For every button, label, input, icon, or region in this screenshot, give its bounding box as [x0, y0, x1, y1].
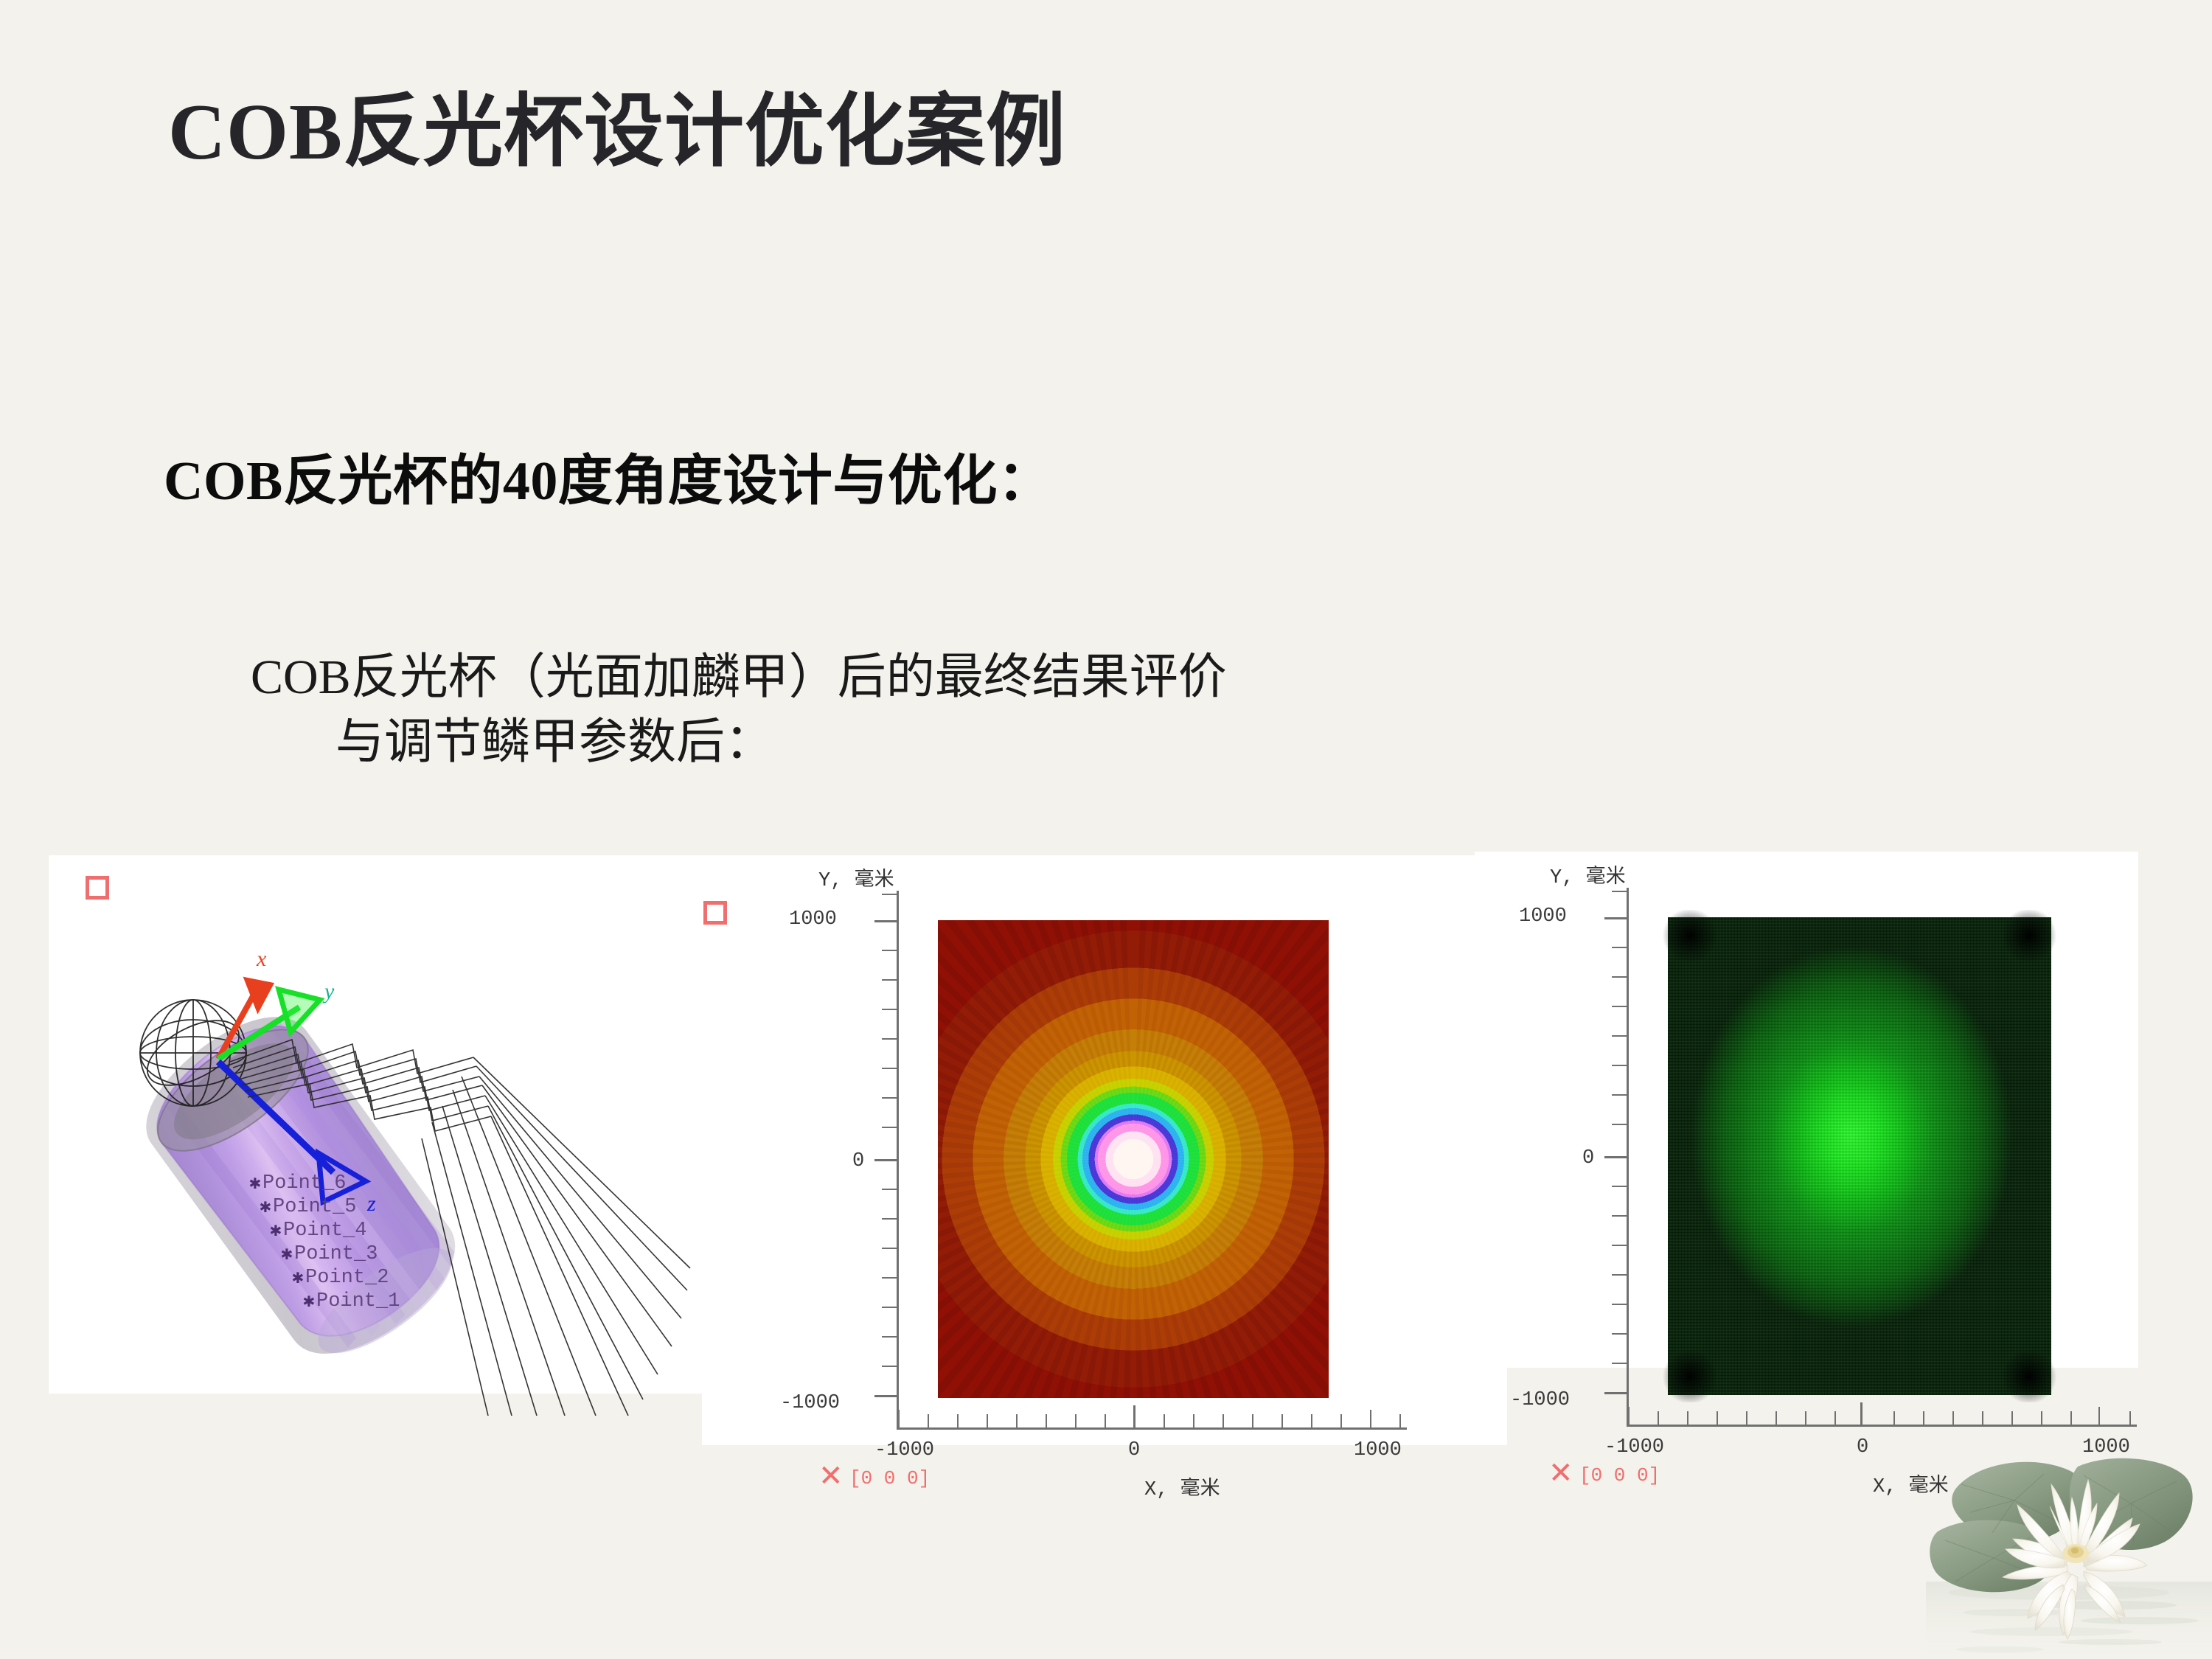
page-title: COB反光杯设计优化案例 [168, 87, 1066, 178]
y-tick-mark [1612, 1215, 1627, 1217]
x-tick-mark-major [1860, 1402, 1863, 1425]
x-tick-mark [928, 1414, 929, 1427]
x-tick-m1000: -1000 [1604, 1436, 1664, 1458]
body-text-line-1: COB反光杯（光面加麟甲）后的最终结果评价 [251, 645, 1227, 710]
y-tick-mark [1612, 1035, 1627, 1037]
y-tick-mark [1612, 891, 1627, 892]
x-tick-mark [1222, 1414, 1224, 1427]
x-tick-mark [1805, 1411, 1806, 1425]
x-tick-mark [1687, 1411, 1688, 1425]
x-tick-mark [2041, 1411, 2042, 1425]
x-tick-mark [898, 1410, 900, 1427]
body-text-line-2: 与调节鳞甲参数后： [335, 710, 1227, 775]
y-tick-mark [882, 1336, 897, 1338]
y-tick-mark [882, 1307, 897, 1308]
y-tick-mark [882, 1277, 897, 1279]
x-tick-1000: 1000 [1354, 1439, 1402, 1461]
x-tick-mark [1370, 1410, 1371, 1427]
origin-coordinate-label: [0 0 0] [1579, 1464, 1660, 1486]
y-tick-mark [882, 1068, 897, 1069]
y-tick-mark [1612, 1274, 1627, 1276]
y-tick-mark-major [874, 920, 897, 922]
y-tick-mark [882, 1189, 897, 1190]
x-tick-mark [1016, 1414, 1018, 1427]
selection-handle-middle[interactable] [703, 901, 727, 925]
contour-heatmap-image [938, 920, 1329, 1398]
x-tick-mark [1311, 1414, 1312, 1427]
y-tick-mark [882, 1127, 897, 1128]
water-lily-decoration [1926, 1441, 2212, 1659]
reflector-3d-view[interactable]: Point_6 Point_5 Point_4 Point_3 Point_2 … [49, 855, 712, 1394]
y-tick-mark [882, 1248, 897, 1249]
y-tick-mark [1612, 1363, 1627, 1364]
x-tick-mark [1923, 1411, 1924, 1425]
svg-text:✱: ✱ [292, 1267, 304, 1289]
contour-texture-overlay [938, 920, 1329, 1398]
svg-text:✱: ✱ [281, 1243, 293, 1265]
y-tick-mark [882, 1366, 897, 1367]
x-tick-mark [2129, 1411, 2131, 1425]
x-tick-mark [1982, 1411, 1983, 1425]
y-tick-mark [1612, 1065, 1627, 1066]
y-tick-m1000: -1000 [1510, 1389, 1570, 1411]
svg-text:✱: ✱ [303, 1290, 315, 1312]
y-axis-title: Y, 毫米 [818, 863, 894, 892]
x-tick-mark [1893, 1411, 1895, 1425]
body-text: COB反光杯（光面加麟甲）后的最终结果评价 与调节鳞甲参数后： [251, 645, 1227, 775]
x-axis-title: X, 毫米 [1144, 1472, 1220, 1501]
water-lily-svg [1926, 1441, 2212, 1659]
x-tick-mark [1193, 1414, 1194, 1427]
y-tick-mark [1612, 1186, 1627, 1187]
y-tick-mark [1612, 947, 1627, 948]
x-tick-mark [1105, 1414, 1106, 1427]
axis-label-y: y [324, 979, 334, 1004]
green-texture-overlay [1668, 917, 2051, 1395]
x-tick-mark [1658, 1411, 1659, 1425]
y-tick-1000: 1000 [789, 908, 837, 931]
x-tick-mark [957, 1414, 959, 1427]
x-tick-mark [1399, 1414, 1401, 1427]
origin-cross-icon: ✕ [818, 1461, 844, 1491]
y-tick-mark [1612, 1094, 1627, 1096]
x-tick-mark [1952, 1411, 1954, 1425]
y-tick-mark [882, 1097, 897, 1099]
svg-text:✱: ✱ [270, 1220, 282, 1242]
green-corner-vignette [1660, 910, 1719, 961]
y-tick-mark-major [1604, 917, 1627, 919]
svg-text:✱: ✱ [249, 1172, 261, 1194]
x-tick-mark [1281, 1414, 1283, 1427]
green-corner-vignette [2000, 910, 2059, 961]
y-tick-mark [882, 1009, 897, 1010]
slide-canvas: COB反光杯设计优化案例 COB反光杯的40度角度设计与优化： COB反光杯（光… [0, 0, 2212, 1659]
green-illuminance-chart[interactable]: Y, 毫米 1000 0 -1000 [1467, 863, 2205, 1438]
y-tick-mark [1612, 1006, 1627, 1007]
x-tick-0: 0 [1857, 1436, 1868, 1458]
x-tick-mark [1746, 1411, 1747, 1425]
x-tick-mark [1075, 1414, 1077, 1427]
selection-handle-left[interactable] [86, 876, 109, 900]
y-tick-0: 0 [1582, 1147, 1594, 1169]
x-tick-mark [2098, 1407, 2100, 1425]
x-tick-mark [2011, 1411, 2013, 1425]
y-tick-mark [882, 1218, 897, 1220]
x-tick-0: 0 [1128, 1439, 1140, 1461]
x-tick-mark [1340, 1414, 1342, 1427]
x-tick-mark [1628, 1407, 1630, 1425]
green-corner-vignette [2000, 1351, 2059, 1402]
green-heatmap-image [1668, 917, 2051, 1395]
y-tick-mark [1612, 1333, 1627, 1335]
y-tick-mark [882, 894, 897, 895]
y-tick-mark-major [1604, 1156, 1627, 1158]
axis-label-z: z [367, 1192, 376, 1217]
section-heading: COB反光杯的40度角度设计与优化： [164, 437, 1052, 515]
x-tick-mark [1164, 1414, 1165, 1427]
origin-cross-icon: ✕ [1548, 1458, 1573, 1488]
x-tick-mark [1834, 1411, 1836, 1425]
y-tick-0: 0 [852, 1150, 864, 1172]
y-axis-line [1627, 888, 1629, 1425]
svg-text:✱: ✱ [260, 1196, 271, 1218]
green-corner-vignette [1660, 1351, 1719, 1402]
y-tick-mark-major [874, 1395, 897, 1397]
axis-label-x: x [257, 947, 266, 972]
y-tick-mark [882, 950, 897, 951]
contour-illuminance-chart[interactable]: Y, 毫米 1000 0 -1000 [737, 863, 1475, 1438]
y-tick-mark [1612, 976, 1627, 978]
y-axis-line [897, 891, 899, 1427]
y-axis-title: Y, 毫米 [1550, 860, 1626, 889]
x-tick-mark [1252, 1414, 1253, 1427]
y-tick-mark-major [874, 1159, 897, 1161]
y-tick-m1000: -1000 [780, 1392, 840, 1414]
y-tick-1000: 1000 [1519, 905, 1567, 928]
x-tick-mark [987, 1414, 988, 1427]
y-tick-mark [1612, 1304, 1627, 1305]
y-tick-mark-major [1604, 1392, 1627, 1394]
y-tick-mark [882, 1038, 897, 1040]
x-axis-line [1627, 1425, 2137, 1427]
x-tick-mark-major [1133, 1405, 1135, 1427]
y-tick-mark [1612, 1245, 1627, 1246]
x-tick-mark [1717, 1411, 1718, 1425]
x-tick-mark [2070, 1411, 2072, 1425]
x-axis-line [897, 1427, 1407, 1430]
x-tick-mark [1775, 1411, 1777, 1425]
x-tick-m1000: -1000 [874, 1439, 934, 1461]
origin-coordinate-label: [0 0 0] [849, 1467, 930, 1489]
x-tick-mark [1046, 1414, 1047, 1427]
y-tick-mark [882, 979, 897, 981]
y-tick-mark [1612, 1124, 1627, 1125]
